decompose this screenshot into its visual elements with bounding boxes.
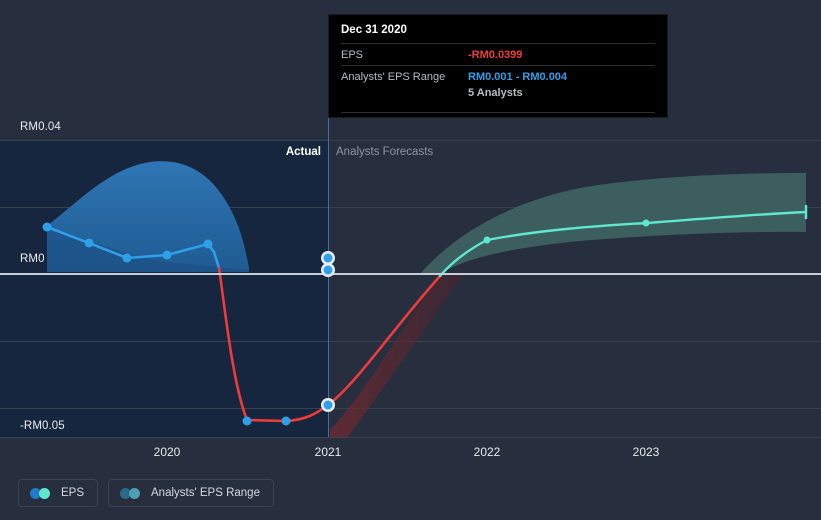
tooltip-row-range: Analysts' EPS Range RM0.001 - RM0.004 5 … — [341, 65, 655, 103]
tooltip-value-eps: -RM0.0399 — [468, 49, 522, 61]
tooltip-date: Dec 31 2020 — [341, 24, 655, 43]
data-point-eps[interactable] — [123, 254, 132, 263]
data-point-eps[interactable] — [85, 239, 94, 248]
tooltip-value-range: RM0.001 - RM0.004 — [468, 71, 567, 83]
legend-swatch-eps-icon — [30, 488, 52, 499]
y-axis-label-bottom: -RM0.05 — [20, 420, 65, 432]
chart-root: Actual Analysts Forecasts RM0.04 RM0 -RM… — [0, 0, 821, 520]
tooltip-analysts-count: 5 Analysts — [468, 87, 567, 99]
data-point-eps-selected[interactable] — [324, 401, 333, 410]
data-point-eps[interactable] — [43, 223, 52, 232]
data-point-eps[interactable] — [163, 251, 172, 260]
legend-label-eps: EPS — [61, 487, 84, 499]
band-actual-red — [330, 276, 462, 437]
x-axis-label-2023: 2023 — [633, 445, 660, 459]
data-point-forecast[interactable] — [643, 220, 650, 227]
hover-crosshair — [328, 118, 329, 437]
zero-reference-line — [0, 273, 821, 275]
legend-item-eps[interactable]: EPS — [18, 479, 98, 507]
x-axis-label-2021: 2021 — [315, 445, 342, 459]
data-point-forecast[interactable] — [484, 237, 491, 244]
legend-label-analysts-range: Analysts' EPS Range — [151, 487, 260, 499]
tooltip-row-eps: EPS -RM0.0399 — [341, 43, 655, 65]
phase-label-forecast: Analysts Forecasts — [336, 144, 433, 160]
data-point-eps[interactable] — [243, 417, 252, 426]
data-point-range-low-selected[interactable] — [324, 266, 333, 275]
tooltip-value-range-group: RM0.001 - RM0.004 5 Analysts — [468, 71, 567, 99]
y-axis-label-zero: RM0 — [20, 253, 45, 265]
data-point-eps[interactable] — [204, 240, 213, 249]
data-point-eps[interactable] — [282, 417, 291, 426]
x-axis-label-2022: 2022 — [474, 445, 501, 459]
y-axis-label-top: RM0.04 — [20, 121, 61, 133]
x-axis-label-2020: 2020 — [154, 445, 181, 459]
tooltip-key-range: Analysts' EPS Range — [341, 71, 468, 83]
data-point-range-high-selected[interactable] — [324, 254, 333, 263]
legend-swatch-range-icon — [120, 488, 142, 499]
hover-tooltip: Dec 31 2020 EPS -RM0.0399 Analysts' EPS … — [328, 14, 668, 118]
tooltip-footer-divider — [341, 112, 655, 113]
legend-item-analysts-range[interactable]: Analysts' EPS Range — [108, 479, 274, 507]
phase-label-actual: Actual — [286, 144, 321, 160]
band-forecast-teal — [420, 173, 806, 274]
chart-legend: EPS Analysts' EPS Range — [18, 479, 274, 507]
tooltip-key-eps: EPS — [341, 49, 468, 61]
